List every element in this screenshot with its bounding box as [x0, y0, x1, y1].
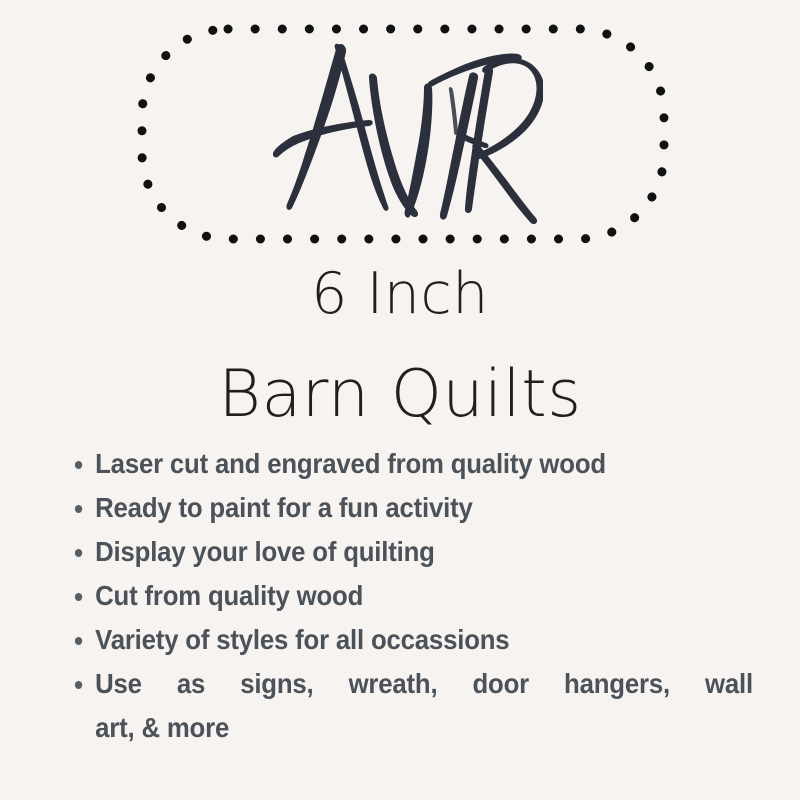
- list-item-label: Cut from quality wood: [95, 574, 711, 618]
- bullet-dot-icon: [75, 549, 82, 557]
- brand-logo-block: [133, 20, 673, 248]
- list-item-label-line1: Use as signs, wreath, door hangers, wall: [95, 662, 753, 706]
- bullet-dot-icon: [75, 681, 82, 689]
- feature-list: Laser cut and engraved from quality wood…: [62, 442, 768, 750]
- avtr-script-logo: [273, 32, 543, 232]
- list-item: Use as signs, wreath, door hangers, wall…: [62, 662, 712, 750]
- list-item: Cut from quality wood: [62, 574, 712, 618]
- product-infographic: 6 Inch Barn Quilts Laser cut and engrave…: [0, 0, 800, 800]
- list-item: Display your love of quilting: [62, 530, 712, 574]
- list-item-label: Variety of styles for all occassions: [95, 618, 711, 662]
- bullet-dot-icon: [75, 505, 82, 513]
- list-item: Ready to paint for a fun activity: [62, 486, 712, 530]
- bullet-dot-icon: [75, 593, 82, 601]
- avtr-script-icon: [273, 32, 543, 232]
- list-item-label: Use as signs, wreath, door hangers, wall…: [95, 662, 753, 750]
- headline-product: Barn Quilts: [0, 362, 800, 427]
- headline-size: 6 Inch: [0, 266, 800, 323]
- list-item-label: Ready to paint for a fun activity: [95, 486, 711, 530]
- list-item-label-line2: art, & more: [95, 706, 753, 750]
- bullet-dot-icon: [75, 637, 82, 645]
- bullet-dot-icon: [75, 461, 82, 469]
- list-item: Laser cut and engraved from quality wood: [62, 442, 712, 486]
- list-item-label: Display your love of quilting: [95, 530, 711, 574]
- list-item-label: Laser cut and engraved from quality wood: [95, 442, 711, 486]
- list-item: Variety of styles for all occassions: [62, 618, 712, 662]
